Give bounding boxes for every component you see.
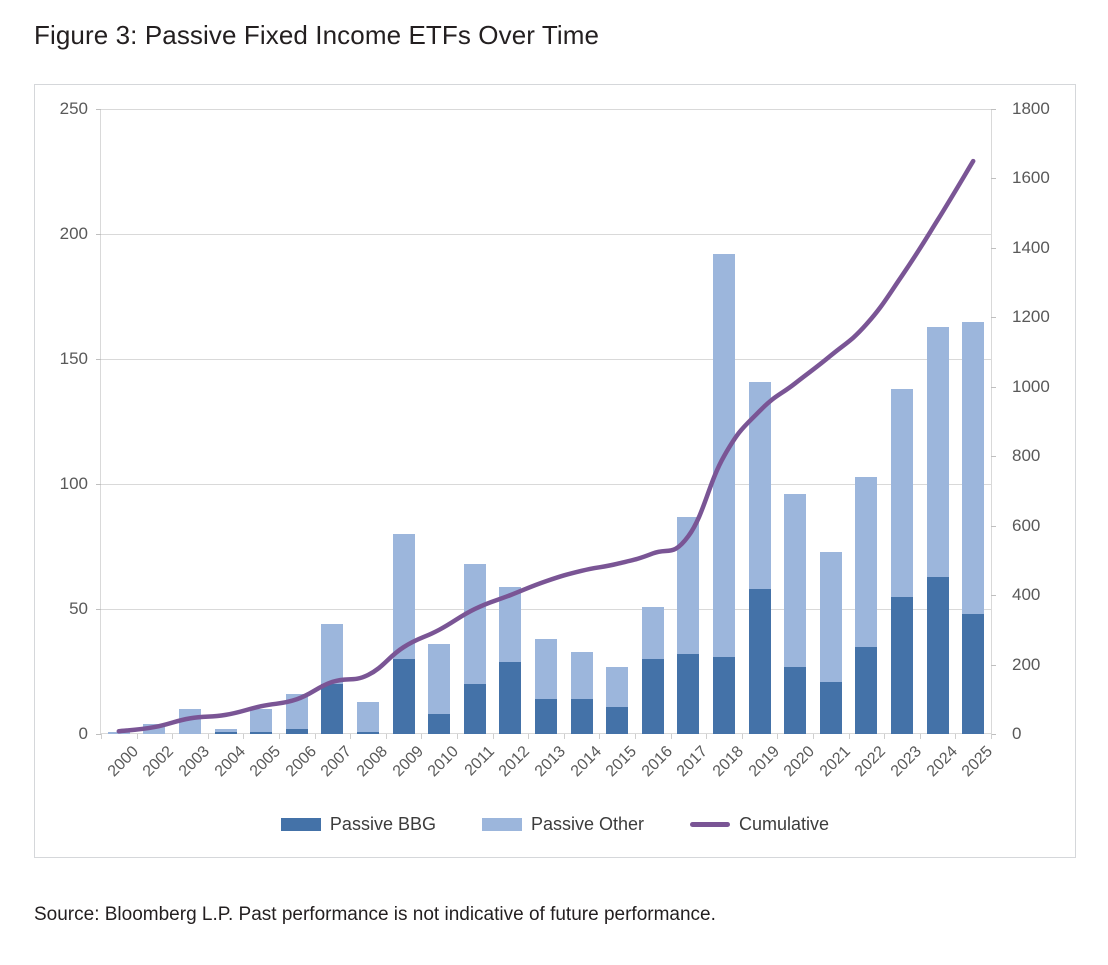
x-axis-tick-label: 2016 [639, 743, 677, 781]
legend-label: Cumulative [739, 814, 829, 835]
y-axis-right-tick-mark [991, 526, 996, 527]
y-axis-right-tick-mark [991, 387, 996, 388]
bar-group[interactable] [713, 254, 735, 734]
x-axis-tick-mark [386, 734, 387, 739]
x-axis-tick-mark [671, 734, 672, 739]
bar-segment-passive-other[interactable] [179, 709, 201, 734]
bar-segment-passive-other[interactable] [464, 564, 486, 684]
bar-segment-passive-other[interactable] [143, 724, 165, 734]
bar-segment-passive-bbg[interactable] [855, 647, 877, 735]
x-axis-tick-label: 2009 [389, 743, 427, 781]
bar-group[interactable] [962, 322, 984, 735]
bar-segment-passive-bbg[interactable] [571, 699, 593, 734]
bar-segment-passive-other[interactable] [215, 729, 237, 732]
legend-color-swatch [482, 818, 522, 831]
bar-group[interactable] [784, 494, 806, 734]
legend-label: Passive Other [531, 814, 644, 835]
bar-segment-passive-bbg[interactable] [749, 589, 771, 734]
y-axis-left-tick-mark [96, 609, 101, 610]
y-axis-right-tick-label: 200 [1012, 655, 1040, 675]
bar-segment-passive-other[interactable] [571, 652, 593, 700]
y-axis-right-line [991, 109, 992, 734]
x-axis-tick-label: 2024 [923, 743, 961, 781]
bar-segment-passive-bbg[interactable] [215, 732, 237, 735]
x-axis-tick-mark [137, 734, 138, 739]
x-axis-tick-mark [315, 734, 316, 739]
bar-group[interactable] [179, 709, 201, 734]
legend-item[interactable]: Cumulative [690, 814, 829, 835]
x-axis-tick-label: 2011 [461, 743, 498, 780]
x-axis-tick-mark [955, 734, 956, 739]
y-axis-left-line [100, 109, 101, 734]
gridline [101, 234, 991, 235]
x-axis-tick-mark [279, 734, 280, 739]
bar-group[interactable] [606, 667, 628, 735]
bar-segment-passive-other[interactable] [357, 702, 379, 732]
gridline [101, 359, 991, 360]
y-axis-right-tick-label: 800 [1012, 446, 1040, 466]
x-axis-tick-label: 2005 [247, 743, 285, 781]
bar-group[interactable] [571, 652, 593, 735]
chart-frame: 050100150200250 020040060080010001200140… [34, 84, 1076, 858]
y-axis-left-tick-label: 200 [60, 224, 88, 244]
bar-segment-passive-bbg[interactable] [642, 659, 664, 734]
x-axis-tick-label: 2000 [105, 743, 143, 781]
bar-group[interactable] [250, 709, 272, 734]
x-axis-tick-label: 2003 [176, 743, 214, 781]
bar-segment-passive-other[interactable] [321, 624, 343, 684]
y-axis-right-tick-label: 1600 [1012, 168, 1050, 188]
x-axis-tick-mark [599, 734, 600, 739]
x-axis-tick-label: 2019 [745, 743, 783, 781]
bar-segment-passive-other[interactable] [891, 389, 913, 597]
bar-group[interactable] [535, 639, 557, 734]
y-axis-right-tick-label: 600 [1012, 516, 1040, 536]
x-axis-tick-label: 2022 [852, 743, 890, 781]
bar-segment-passive-other[interactable] [820, 552, 842, 682]
legend-item[interactable]: Passive BBG [281, 814, 436, 835]
bar-segment-passive-other[interactable] [535, 639, 557, 699]
x-axis-tick-label: 2023 [888, 743, 926, 781]
x-axis-tick-label: 2004 [211, 743, 249, 781]
x-axis-tick-mark [920, 734, 921, 739]
y-axis-left-tick-mark [96, 109, 101, 110]
x-axis-tick-label: 2020 [781, 743, 819, 781]
bar-group[interactable] [677, 517, 699, 735]
bar-group[interactable] [215, 729, 237, 734]
bar-segment-passive-other[interactable] [784, 494, 806, 667]
y-axis-right-tick-mark [991, 456, 996, 457]
bar-segment-passive-other[interactable] [855, 477, 877, 647]
x-axis-tick-label: 2007 [318, 743, 356, 781]
x-axis-tick-label: 2012 [496, 743, 534, 781]
x-axis-tick-mark [457, 734, 458, 739]
y-axis-right-tick-label: 1200 [1012, 307, 1050, 327]
y-axis-left-tick-label: 250 [60, 99, 88, 119]
y-axis-right-tick-mark [991, 665, 996, 666]
x-axis-tick-label: 2021 [817, 743, 855, 781]
y-axis-right-tick-label: 1800 [1012, 99, 1050, 119]
bar-segment-passive-bbg[interactable] [820, 682, 842, 735]
bar-segment-passive-bbg[interactable] [713, 657, 735, 735]
x-axis-tick-label: 2010 [425, 743, 463, 781]
bar-segment-passive-bbg[interactable] [357, 732, 379, 735]
x-axis-tick-label: 2002 [140, 743, 178, 781]
bar-segment-passive-bbg[interactable] [962, 614, 984, 734]
bar-segment-passive-bbg[interactable] [428, 714, 450, 734]
x-axis-tick-mark [635, 734, 636, 739]
x-axis-tick-mark [991, 734, 992, 739]
bar-group[interactable] [464, 564, 486, 734]
bar-group[interactable] [642, 607, 664, 735]
x-axis-tick-mark [172, 734, 173, 739]
bar-group[interactable] [499, 587, 521, 735]
bar-group[interactable] [927, 327, 949, 735]
y-axis-left-tick-mark [96, 484, 101, 485]
bar-segment-passive-other[interactable] [428, 644, 450, 714]
bar-group[interactable] [393, 534, 415, 734]
bar-segment-passive-bbg[interactable] [321, 684, 343, 734]
x-axis-tick-label: 2015 [603, 743, 641, 781]
bar-group[interactable] [855, 477, 877, 735]
bar-segment-passive-other[interactable] [713, 254, 735, 657]
legend-line-marker [690, 822, 730, 827]
gridline [101, 109, 991, 110]
legend-color-swatch [281, 818, 321, 831]
x-axis-tick-mark [493, 734, 494, 739]
bar-segment-passive-bbg[interactable] [499, 662, 521, 735]
bar-segment-passive-other[interactable] [642, 607, 664, 660]
x-axis-tick-label: 2014 [567, 743, 605, 781]
bar-group[interactable] [321, 624, 343, 734]
x-axis-tick-label: 2025 [959, 743, 997, 781]
x-axis-tick-mark [849, 734, 850, 739]
bar-group[interactable] [143, 724, 165, 734]
x-axis-tick-label: 2013 [532, 743, 570, 781]
page-title: Figure 3: Passive Fixed Income ETFs Over… [34, 20, 599, 51]
bar-segment-passive-other[interactable] [749, 382, 771, 590]
bar-segment-passive-other[interactable] [962, 322, 984, 615]
y-axis-right-tick-mark [991, 248, 996, 249]
bar-segment-passive-bbg[interactable] [784, 667, 806, 735]
bar-segment-passive-bbg[interactable] [250, 732, 272, 735]
y-axis-left-tick-mark [96, 359, 101, 360]
y-axis-right-tick-mark [991, 317, 996, 318]
y-axis-left-tick-label: 0 [79, 724, 88, 744]
bar-segment-passive-bbg[interactable] [464, 684, 486, 734]
y-axis-right-tick-label: 1000 [1012, 377, 1050, 397]
y-axis-right-tick-mark [991, 109, 996, 110]
bar-segment-passive-other[interactable] [677, 517, 699, 655]
bar-segment-passive-bbg[interactable] [393, 659, 415, 734]
x-axis-tick-mark [243, 734, 244, 739]
bar-segment-passive-bbg[interactable] [677, 654, 699, 734]
bar-group[interactable] [891, 389, 913, 734]
x-axis-tick-label: 2006 [283, 743, 321, 781]
x-axis-tick-label: 2008 [354, 743, 392, 781]
bar-segment-passive-other[interactable] [927, 327, 949, 577]
x-axis-tick-mark [350, 734, 351, 739]
y-axis-left-tick-mark [96, 234, 101, 235]
bar-segment-passive-other[interactable] [393, 534, 415, 659]
y-axis-right-tick-label: 400 [1012, 585, 1040, 605]
x-axis-tick-mark [777, 734, 778, 739]
x-axis-tick-label: 2018 [710, 743, 748, 781]
bar-segment-passive-other[interactable] [108, 732, 130, 735]
source-note: Source: Bloomberg L.P. Past performance … [34, 904, 716, 926]
y-axis-right-tick-mark [991, 178, 996, 179]
y-axis-right-tick-label: 1400 [1012, 238, 1050, 258]
bar-group[interactable] [749, 382, 771, 735]
x-axis-tick-mark [884, 734, 885, 739]
bar-segment-passive-other[interactable] [499, 587, 521, 662]
bar-group[interactable] [108, 732, 130, 735]
legend-item[interactable]: Passive Other [482, 814, 644, 835]
bar-segment-passive-other[interactable] [250, 709, 272, 732]
y-axis-right-tick-label: 0 [1012, 724, 1021, 744]
bar-segment-passive-other[interactable] [606, 667, 628, 707]
bar-group[interactable] [428, 644, 450, 734]
bar-segment-passive-bbg[interactable] [927, 577, 949, 735]
bar-segment-passive-bbg[interactable] [286, 729, 308, 734]
x-axis-tick-mark [208, 734, 209, 739]
legend-label: Passive BBG [330, 814, 436, 835]
plot-area: 050100150200250 020040060080010001200140… [101, 109, 991, 734]
chart-legend: Passive BBGPassive OtherCumulative [35, 814, 1075, 835]
y-axis-left-tick-label: 100 [60, 474, 88, 494]
x-axis-tick-mark [421, 734, 422, 739]
y-axis-left-tick-label: 50 [69, 599, 88, 619]
bar-segment-passive-other[interactable] [286, 694, 308, 729]
y-axis-right-tick-mark [991, 595, 996, 596]
x-axis-tick-label: 2017 [674, 743, 712, 781]
bar-segment-passive-bbg[interactable] [535, 699, 557, 734]
y-axis-left-tick-label: 150 [60, 349, 88, 369]
bar-group[interactable] [357, 702, 379, 735]
bar-segment-passive-bbg[interactable] [891, 597, 913, 735]
bar-group[interactable] [820, 552, 842, 735]
bar-group[interactable] [286, 694, 308, 734]
x-axis-tick-mark [528, 734, 529, 739]
x-axis-tick-mark [101, 734, 102, 739]
x-axis-tick-mark [564, 734, 565, 739]
x-axis-tick-mark [813, 734, 814, 739]
x-axis-tick-mark [742, 734, 743, 739]
bar-segment-passive-bbg[interactable] [606, 707, 628, 735]
x-axis-tick-mark [706, 734, 707, 739]
